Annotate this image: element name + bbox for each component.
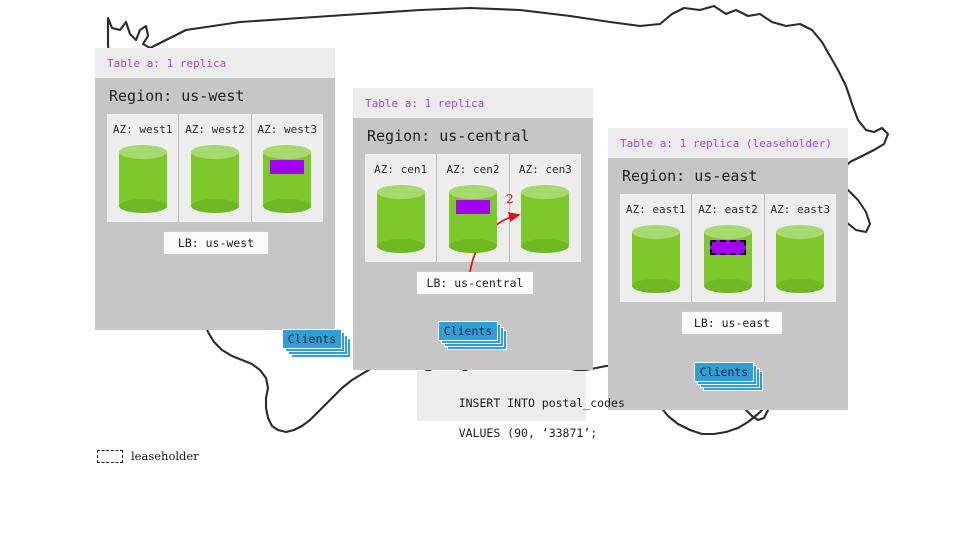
cylinder-body bbox=[776, 232, 824, 286]
cylinder-bottom bbox=[521, 239, 569, 253]
cylinder-bottom bbox=[191, 199, 239, 213]
cylinder-bottom bbox=[449, 239, 497, 253]
arrow-step-label: 2 bbox=[506, 192, 514, 206]
replica-marker-west3[interactable] bbox=[270, 160, 304, 174]
cylinder-body bbox=[632, 232, 680, 286]
cylinder-bottom bbox=[263, 199, 311, 213]
cylinder-bottom bbox=[704, 279, 752, 293]
node-cylinder-west3[interactable] bbox=[263, 145, 311, 213]
cylinder-top bbox=[776, 225, 824, 239]
cylinder-top bbox=[449, 185, 497, 199]
cylinder-top bbox=[263, 145, 311, 159]
cylinder-top bbox=[377, 185, 425, 199]
node-cylinder-east3[interactable] bbox=[776, 225, 824, 293]
node-cylinder-cen2[interactable] bbox=[449, 185, 497, 253]
replica-marker-cen2[interactable] bbox=[456, 200, 490, 214]
cylinder-top bbox=[191, 145, 239, 159]
cylinder-top bbox=[119, 145, 167, 159]
cylinder-body bbox=[191, 152, 239, 206]
cylinder-top bbox=[521, 185, 569, 199]
cylinder-bottom bbox=[632, 279, 680, 293]
node-cylinder-west1[interactable] bbox=[119, 145, 167, 213]
cylinder-body bbox=[377, 192, 425, 246]
cylinder-body bbox=[521, 192, 569, 246]
node-cylinder-cen3[interactable] bbox=[521, 185, 569, 253]
cylinder-body bbox=[119, 152, 167, 206]
cylinder-bottom bbox=[119, 199, 167, 213]
cylinder-top bbox=[632, 225, 680, 239]
node-cylinder-cen1[interactable] bbox=[377, 185, 425, 253]
cylinder-bottom bbox=[377, 239, 425, 253]
leaseholder-legend: leaseholder bbox=[97, 449, 199, 463]
diagram-canvas: Table a: 1 replica Region: us-west AZ: w… bbox=[0, 0, 960, 540]
node-cylinder-east1[interactable] bbox=[632, 225, 680, 293]
legend-label: leaseholder bbox=[131, 449, 199, 463]
dashed-rectangle-icon bbox=[97, 450, 123, 463]
replica-marker-east2-leaseholder[interactable] bbox=[710, 240, 746, 255]
node-cylinder-west2[interactable] bbox=[191, 145, 239, 213]
node-cylinder-east2[interactable] bbox=[704, 225, 752, 293]
cylinder-top bbox=[704, 225, 752, 239]
cylinder-bottom bbox=[776, 279, 824, 293]
